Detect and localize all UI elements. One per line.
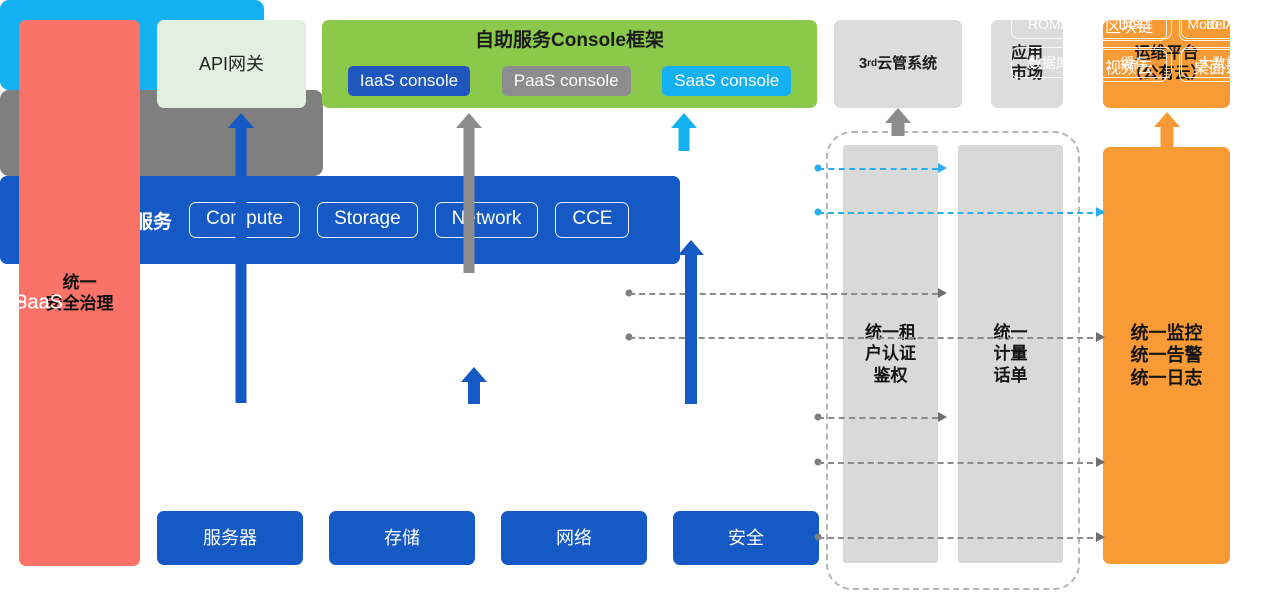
- console-frame-title: 自助服务Console框架: [322, 29, 817, 53]
- connector-arrow-iaas-to-auth: [938, 412, 947, 422]
- unified-tenant-auth-column: 统一租 户认证 鉴权: [843, 145, 938, 563]
- hardware-block-storage: 存储: [329, 511, 475, 565]
- iaas-chip-network: Network: [435, 202, 539, 238]
- badge-paas-console: PaaS console: [502, 66, 631, 96]
- architecture-diagram: 统一 安全治理 API网关 自助服务Console框架 IaaS console…: [0, 0, 1265, 605]
- arrow-shaft: [685, 255, 697, 404]
- paas-chip-bigdata: 大数据: [1181, 47, 1257, 78]
- arrow-iaas-to-saas: [678, 240, 704, 404]
- arrow-shaft: [468, 382, 480, 404]
- connector-iaas-to-auth: [818, 417, 938, 419]
- connector-iaas-to-ops: [818, 462, 1103, 464]
- arrow-saas-to-console: [671, 113, 697, 151]
- paas-chip-modelarts: ModelArts: [1181, 8, 1257, 39]
- third-party-cloud-management-block: 3rd云管系统: [834, 20, 962, 108]
- connector-paas-to-auth: [629, 293, 938, 295]
- hardware-block-security: 安全: [673, 511, 819, 565]
- third-party-prefix: 3: [859, 55, 867, 74]
- arrow-head-up-icon: [1154, 112, 1180, 127]
- third-party-suffix: 云管系统: [877, 55, 937, 74]
- arrow-iaas-to-paas: [461, 367, 487, 404]
- arrow-shaft: [236, 128, 247, 403]
- connector-arrow-paas-to-ops: [1096, 332, 1105, 342]
- iaas-chip-storage: Storage: [317, 202, 418, 238]
- arrow-shaft: [679, 128, 690, 151]
- connector-hardware-to-ops: [818, 537, 1103, 539]
- arrow-shaft: [464, 128, 475, 273]
- arrow-shaft: [1161, 127, 1174, 150]
- connector-arrow-saas-to-ops: [1096, 207, 1105, 217]
- arrow-shaft: [892, 123, 905, 136]
- paas-chip-cache: 缓存: [1096, 47, 1172, 78]
- third-party-superscript: rd: [867, 58, 877, 71]
- connector-arrow-paas-to-auth: [938, 288, 947, 298]
- arrow-head-up-icon: [678, 240, 704, 255]
- paas-chip-database: 数据库: [1011, 47, 1087, 78]
- paas-layer-label: PaaS: [14, 291, 63, 314]
- arrow-zone-to-third-party: [884, 108, 912, 136]
- self-service-console-frame: 自助服务Console框架 IaaS console PaaS console …: [322, 20, 817, 108]
- badge-saas-console: SaaS console: [662, 66, 791, 96]
- unified-metering-billing-column: 统一 计量 话单: [958, 145, 1063, 563]
- badge-iaas-console: IaaS console: [348, 66, 470, 96]
- arrow-head-up-icon: [885, 108, 911, 123]
- arrow-head-up-icon: [461, 367, 487, 382]
- connector-arrow-saas-to-auth: [938, 163, 947, 173]
- arrow-ops-tall-to-ops-top: [1153, 112, 1181, 150]
- connector-arrow-hardware-to-ops: [1096, 532, 1105, 542]
- api-gateway-block: API网关: [157, 20, 306, 108]
- hardware-block-server: 服务器: [157, 511, 303, 565]
- arrow-head-up-icon: [456, 113, 482, 128]
- iaas-chip-cce: CCE: [555, 202, 629, 238]
- paas-chip-dgc: DGC: [1096, 8, 1172, 39]
- connector-arrow-iaas-to-ops: [1096, 457, 1105, 467]
- paas-service-chip-grid: ROMA DGC ModelArts 数据库 缓存 大数据: [1011, 8, 1257, 78]
- arrow-iaas-to-api-gateway: [228, 113, 254, 403]
- connector-saas-to-ops: [818, 212, 1103, 214]
- console-badge-row: IaaS console PaaS console SaaS console: [322, 66, 817, 96]
- hardware-block-network: 网络: [501, 511, 647, 565]
- paas-chip-roma: ROMA: [1011, 8, 1087, 39]
- arrow-paas-to-console: [456, 113, 482, 273]
- connector-saas-to-auth: [818, 168, 938, 170]
- unified-monitoring-alarm-log-block: 统一监控 统一告警 统一日志: [1103, 147, 1230, 564]
- arrow-head-up-icon: [228, 113, 254, 128]
- arrow-head-up-icon: [671, 113, 697, 128]
